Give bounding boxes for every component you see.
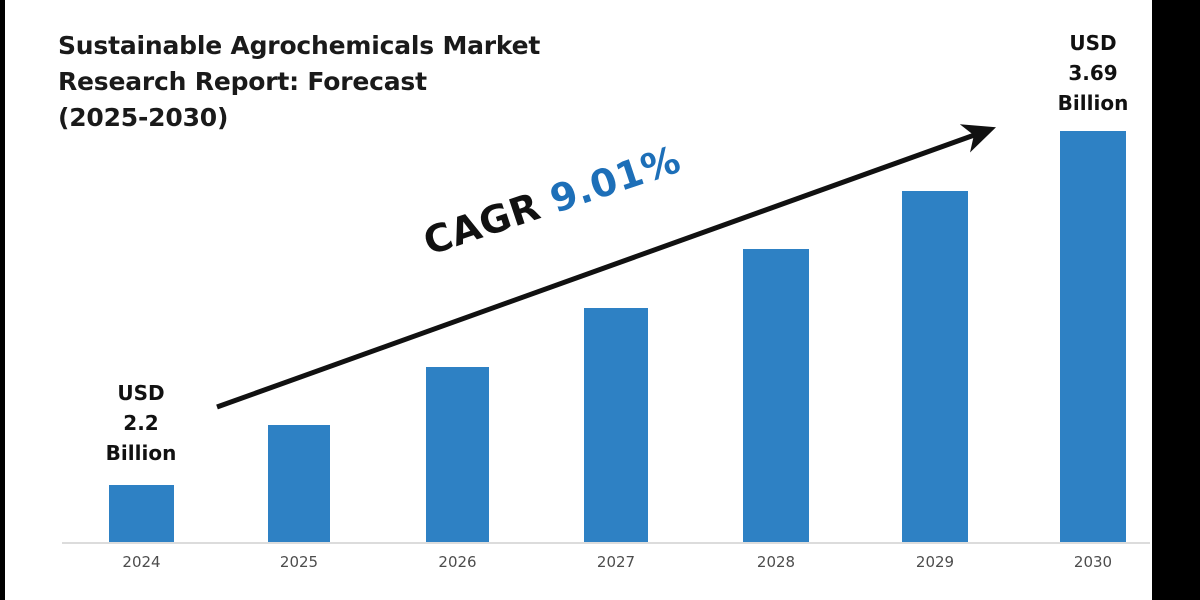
bar-2026 xyxy=(426,367,489,542)
bar-2024 xyxy=(109,485,174,542)
bar-2030 xyxy=(1060,131,1126,542)
chart-image-frame: Sustainable Agrochemicals Market Researc… xyxy=(0,0,1200,600)
bar-2027 xyxy=(584,308,648,542)
cagr-prefix-text: CAGR xyxy=(418,184,546,264)
cagr-value-text: 9.01% xyxy=(545,137,686,221)
x-tick-label-2028: 2028 xyxy=(716,553,836,571)
start-value-callout: USD 2.2 Billion xyxy=(81,378,201,468)
bar-2029 xyxy=(902,191,968,542)
x-axis-line xyxy=(62,542,1150,544)
bar-2025 xyxy=(268,425,330,542)
plot-area: 2024 2025 2026 2027 2028 2029 2030 CAGR … xyxy=(5,0,1152,600)
chart-canvas: Sustainable Agrochemicals Market Researc… xyxy=(5,0,1152,600)
x-tick-label-2030: 2030 xyxy=(1033,553,1153,571)
end-value-callout: USD 3.69 Billion xyxy=(1033,28,1153,118)
x-tick-label-2024: 2024 xyxy=(82,553,202,571)
x-tick-label-2027: 2027 xyxy=(556,553,676,571)
cagr-annotation: CAGR 9.01% xyxy=(418,137,686,264)
x-tick-label-2025: 2025 xyxy=(239,553,359,571)
x-tick-label-2029: 2029 xyxy=(875,553,995,571)
bar-2028 xyxy=(743,249,809,542)
x-tick-label-2026: 2026 xyxy=(398,553,518,571)
growth-arrow xyxy=(5,0,1152,600)
